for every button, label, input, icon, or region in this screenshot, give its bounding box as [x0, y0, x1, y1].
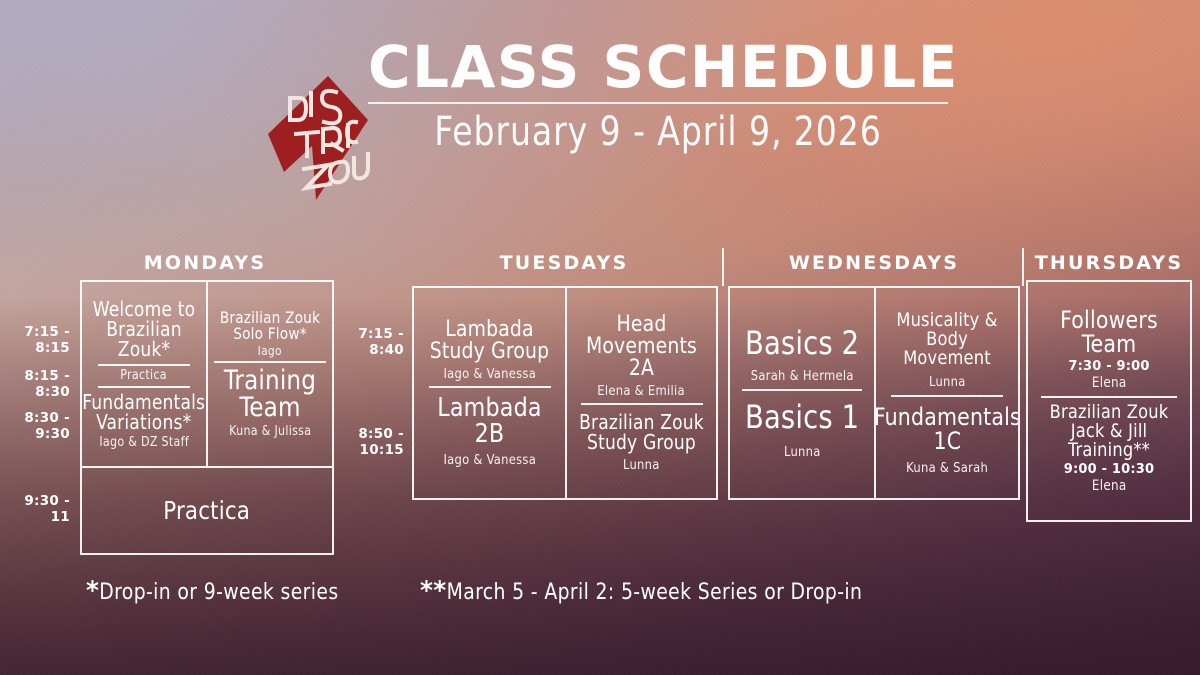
class-title: Practica — [121, 369, 168, 383]
day-header-tuesdays: TUESDAYS — [412, 252, 716, 274]
class-title: Fundamentals Variations* — [83, 392, 206, 432]
class-title: Basics 1 — [745, 401, 859, 433]
class-cell-wed-col2[interactable]: Musicality & Body Movement Lunna Fundame… — [876, 288, 1018, 498]
class-title: Basics 2 — [745, 327, 859, 359]
cell-divider — [429, 386, 551, 388]
class-title: Fundamentals 1C — [876, 405, 1018, 453]
wednesday-schedule-box: Basics 2 Sarah & Hermela Basics 1 Lunna … — [728, 286, 1020, 500]
class-title: Practica — [164, 498, 251, 523]
page-title: CLASS SCHEDULE — [368, 34, 948, 100]
class-teacher: Iago & DZ Staff — [99, 436, 189, 450]
monday-schedule-box: Welcome to Brazilian Zouk* Practica Fund… — [80, 280, 334, 555]
day-divider-tue-wed — [722, 248, 724, 286]
time-label-mon-1: 8:15 - 8:30 — [4, 368, 70, 400]
time-label-mon-3: 9:30 - 11 — [4, 493, 70, 525]
footnote-text: Drop-in or 9-week series — [99, 580, 338, 605]
class-time: 7:30 - 9:00 — [1068, 359, 1149, 374]
day-header-wednesdays: WEDNESDAYS — [728, 252, 1020, 274]
class-title: Followers Team — [1036, 308, 1182, 356]
class-cell-tue-col2[interactable]: Head Movements 2A Elena & Emilia Brazili… — [567, 288, 716, 498]
cell-divider — [742, 389, 862, 391]
schedule-grid: MONDAYS TUESDAYS WEDNESDAYS THURSDAYS 7:… — [0, 248, 1200, 548]
asterisk-marker: ** — [420, 576, 447, 606]
class-teacher: Sarah & Hermela — [750, 369, 853, 383]
district-zouk-logo — [266, 76, 370, 202]
class-title: Lambada Study Group — [422, 319, 558, 363]
day-header-thursdays: THURSDAYS — [1026, 252, 1192, 274]
time-label-mon-0: 7:15 - 8:15 — [4, 324, 70, 356]
class-cell-mon-col1[interactable]: Welcome to Brazilian Zouk* Practica Fund… — [82, 282, 208, 468]
class-title: Training Team — [214, 367, 326, 421]
footnote-single-asterisk: *Drop-in or 9-week series — [86, 576, 339, 606]
cell-divider — [1041, 396, 1177, 398]
cell-divider — [98, 386, 190, 388]
cell-divider — [214, 361, 326, 363]
class-teacher: Iago & Vanessa — [443, 367, 536, 381]
class-teacher: Iago — [258, 344, 282, 357]
title-divider — [368, 102, 948, 104]
class-teacher: Elena & Emilia — [598, 384, 686, 398]
class-title: Brazilian Zouk Jack & Jill Training** — [1036, 403, 1182, 460]
cell-divider — [98, 364, 190, 366]
day-divider-wed-thu — [1022, 248, 1024, 286]
cell-divider — [581, 403, 703, 405]
title-block: CLASS SCHEDULE February 9 - April 9, 202… — [368, 34, 948, 156]
time-label-tue-1: 8:50 - 10:15 — [334, 426, 404, 458]
header: CLASS SCHEDULE February 9 - April 9, 202… — [0, 34, 1200, 174]
class-teacher: Lunna — [784, 445, 821, 459]
footnote-text: March 5 - April 2: 5-week Series or Drop… — [447, 580, 863, 605]
date-range: February 9 - April 9, 2026 — [391, 108, 925, 156]
class-title: Musicality & Body Movement — [883, 311, 1010, 368]
class-cell-mon-col2[interactable]: Brazilian Zouk Solo Flow* Iago Training … — [208, 282, 332, 468]
class-teacher: Kuna & Julissa — [229, 425, 311, 439]
class-title: Head Movements 2A — [575, 314, 709, 380]
class-title: Brazilian Zouk Study Group — [575, 412, 709, 452]
day-header-mondays: MONDAYS — [80, 252, 330, 274]
class-cell-wed-col1[interactable]: Basics 2 Sarah & Hermela Basics 1 Lunna — [730, 288, 876, 498]
class-cell-tue-col1[interactable]: Lambada Study Group Iago & Vanessa Lamba… — [414, 288, 567, 498]
class-time: 9:00 - 10:30 — [1064, 462, 1155, 477]
class-teacher: Elena — [1092, 479, 1127, 494]
class-teacher: Kuna & Sarah — [906, 461, 988, 475]
class-title: Welcome to Brazilian Zouk* — [88, 299, 200, 359]
class-title: Lambada 2B — [422, 395, 558, 447]
class-teacher: Lunna — [929, 375, 966, 389]
class-teacher: Elena — [1092, 376, 1127, 391]
footnotes: *Drop-in or 9-week series **March 5 - Ap… — [0, 568, 1200, 612]
thursday-schedule-box: Followers Team 7:30 - 9:00 Elena Brazili… — [1026, 280, 1192, 522]
tuesday-schedule-box: Lambada Study Group Iago & Vanessa Lamba… — [412, 286, 718, 500]
class-cell-mon-practica[interactable]: Practica — [82, 468, 332, 553]
class-title: Brazilian Zouk Solo Flow* — [214, 310, 326, 342]
cell-divider — [891, 395, 1003, 397]
time-label-mon-2: 8:30 - 9:30 — [4, 410, 70, 442]
footnote-double-asterisk: **March 5 - April 2: 5-week Series or Dr… — [420, 576, 862, 606]
asterisk-marker: * — [86, 576, 99, 606]
class-teacher: Iago & Vanessa — [443, 453, 536, 467]
class-teacher: Lunna — [623, 458, 660, 472]
class-cell-thu-col1[interactable]: Followers Team 7:30 - 9:00 Elena Brazili… — [1028, 282, 1190, 520]
time-label-tue-0: 7:15 - 8:40 — [334, 326, 404, 358]
